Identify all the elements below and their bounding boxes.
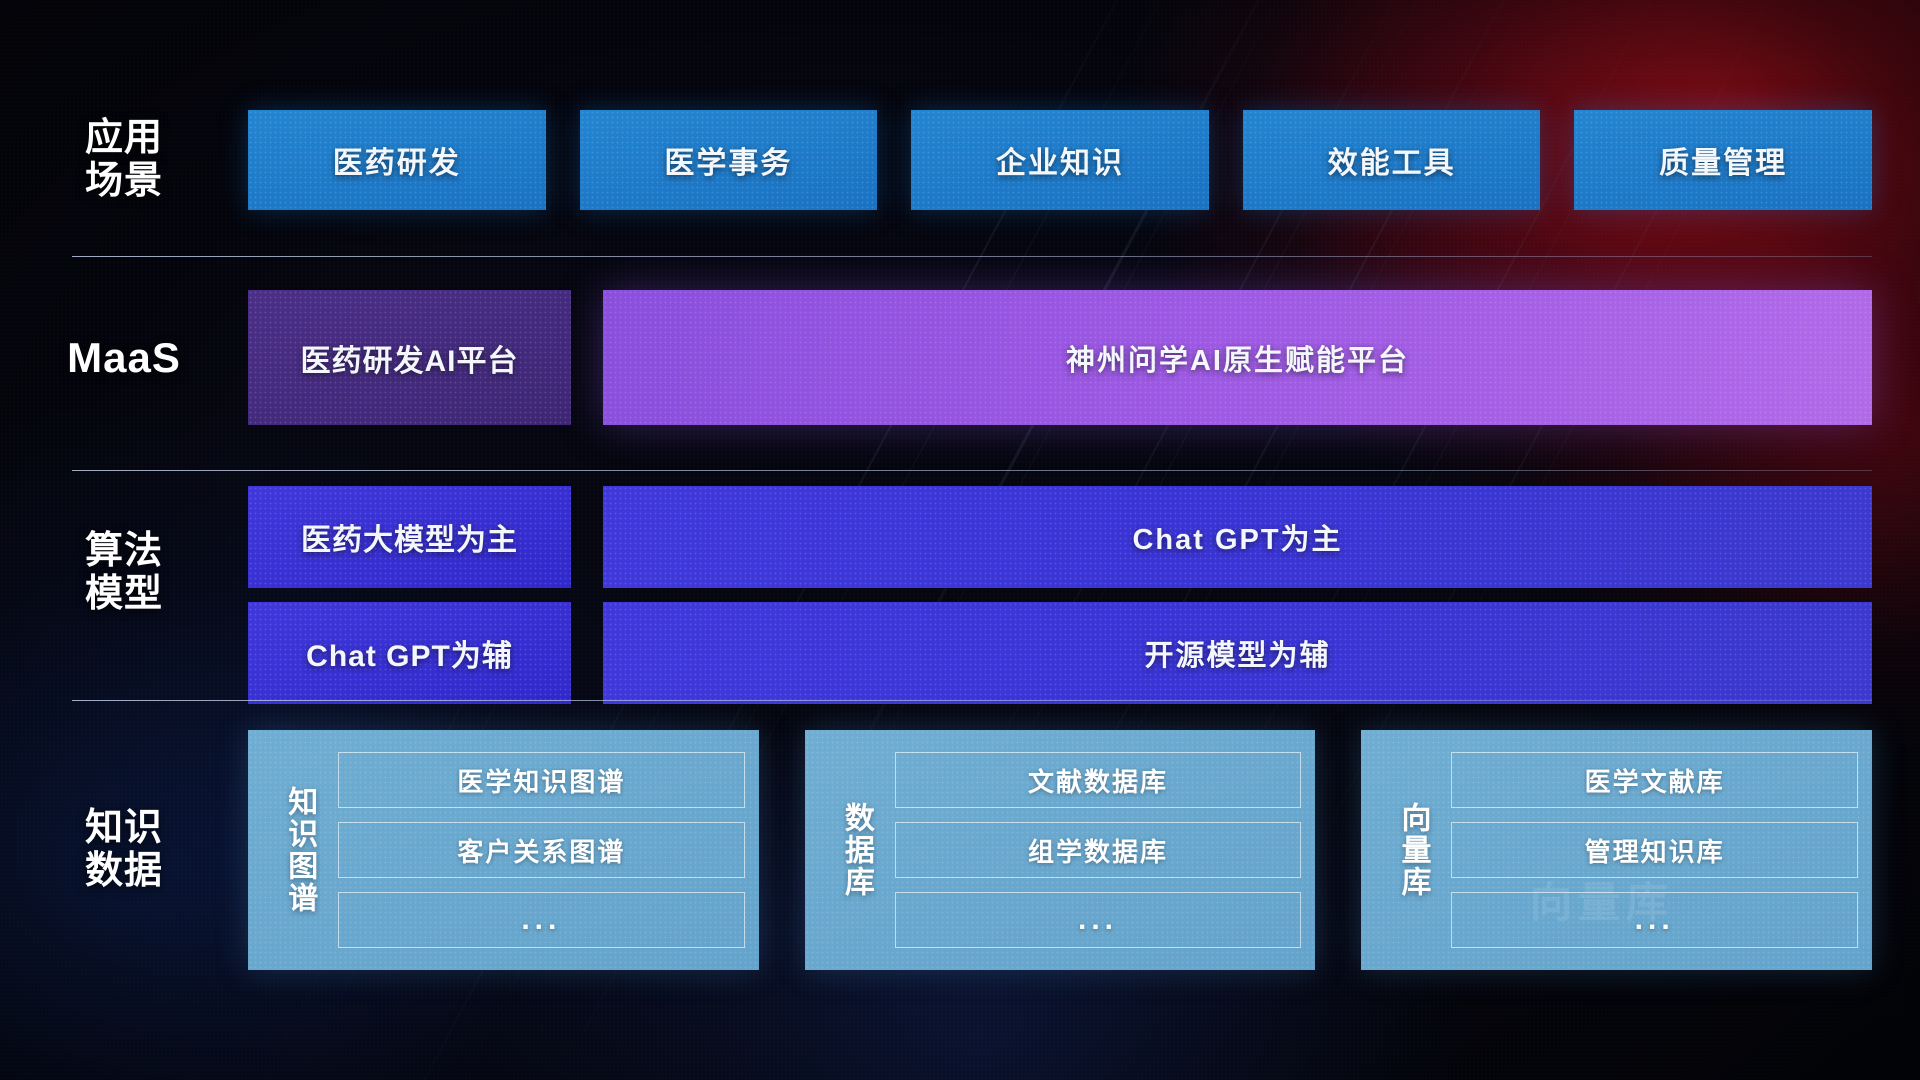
row-algorithm-model: 算法 模型 医药大模型为主 Chat GPT为主 Chat GPT为辅 开源模型… [0, 486, 1920, 726]
divider-2 [72, 470, 1872, 471]
knowledge-item-more[interactable]: ... [895, 892, 1302, 948]
row-label-maas: MaaS [0, 334, 248, 381]
architecture-diagram: 应用 场景 医药研发 医学事务 企业知识 效能工具 质量管理 MaaS 医药研发… [0, 0, 1920, 1080]
app-box-label: 质量管理 [1659, 138, 1787, 182]
knowledge-data-cards: 知识图谱 医学知识图谱 客户关系图谱 ... 数据库 文献数据库 组学数据库 .… [248, 730, 1920, 970]
app-box-label: 企业知识 [996, 138, 1124, 182]
app-box-pharma-rd[interactable]: 医药研发 [248, 110, 546, 210]
knowledge-item-medical-literature-store[interactable]: 医学文献库 [1451, 752, 1858, 808]
algo-left-label: Chat GPT为辅 [306, 631, 513, 675]
row-application-scenario: 应用 场景 医药研发 医学事务 企业知识 效能工具 质量管理 [0, 110, 1920, 210]
app-box-efficiency-tools[interactable]: 效能工具 [1243, 110, 1541, 210]
algo-box-opensource-secondary[interactable]: 开源模型为辅 [603, 602, 1872, 704]
algo-right-label: Chat GPT为主 [1132, 516, 1342, 558]
maas-boxes: 医药研发AI平台 神州问学AI原生赋能平台 [248, 290, 1920, 425]
knowledge-item-management-knowledge-store[interactable]: 管理知识库 [1451, 822, 1858, 878]
app-box-quality-management[interactable]: 质量管理 [1574, 110, 1872, 210]
algo-box-chatgpt-secondary[interactable]: Chat GPT为辅 [248, 602, 571, 704]
row-maas: MaaS 医药研发AI平台 神州问学AI原生赋能平台 [0, 290, 1920, 425]
app-box-label: 医学事务 [664, 138, 792, 182]
knowledge-card-items: 医学文献库 管理知识库 ... [1451, 752, 1858, 948]
knowledge-item-customer-relation-graph[interactable]: 客户关系图谱 [338, 822, 745, 878]
app-box-label: 医药研发 [333, 138, 461, 182]
row-label-algorithm-model: 算法 模型 [0, 486, 248, 615]
algo-box-chatgpt-primary[interactable]: Chat GPT为主 [603, 486, 1872, 588]
algorithm-bar-row-primary: 医药大模型为主 Chat GPT为主 [248, 486, 1872, 588]
knowledge-card-items: 文献数据库 组学数据库 ... [895, 752, 1302, 948]
algorithm-model-bars: 医药大模型为主 Chat GPT为主 Chat GPT为辅 开源模型为辅 [248, 486, 1920, 704]
maas-box-shenzhou-wenxue-platform[interactable]: 神州问学AI原生赋能平台 [603, 290, 1872, 425]
app-box-label: 效能工具 [1328, 138, 1456, 182]
knowledge-card-knowledge-graph[interactable]: 知识图谱 医学知识图谱 客户关系图谱 ... [248, 730, 759, 970]
knowledge-card-database[interactable]: 数据库 文献数据库 组学数据库 ... [805, 730, 1316, 970]
app-box-medical-affairs[interactable]: 医学事务 [580, 110, 878, 210]
knowledge-item-literature-database[interactable]: 文献数据库 [895, 752, 1302, 808]
maas-right-label: 神州问学AI原生赋能平台 [1066, 337, 1409, 379]
knowledge-item-omics-database[interactable]: 组学数据库 [895, 822, 1302, 878]
algorithm-bar-row-secondary: Chat GPT为辅 开源模型为辅 [248, 602, 1872, 704]
algo-left-label: 医药大模型为主 [301, 515, 518, 559]
maas-box-pharma-ai-platform[interactable]: 医药研发AI平台 [248, 290, 571, 425]
maas-left-label: 医药研发AI平台 [301, 336, 519, 380]
knowledge-item-medical-knowledge-graph[interactable]: 医学知识图谱 [338, 752, 745, 808]
app-box-enterprise-knowledge[interactable]: 企业知识 [911, 110, 1209, 210]
row-knowledge-data: 知识 数据 知识图谱 医学知识图谱 客户关系图谱 ... 数据库 文献数据库 组… [0, 730, 1920, 970]
knowledge-card-title: 向量库 [1379, 802, 1445, 898]
algo-box-pharma-llm-primary[interactable]: 医药大模型为主 [248, 486, 571, 588]
knowledge-item-more[interactable]: ... [338, 892, 745, 948]
application-scenario-boxes: 医药研发 医学事务 企业知识 效能工具 质量管理 [248, 110, 1920, 210]
divider-1 [72, 256, 1872, 257]
knowledge-card-vector-store[interactable]: 向量库 医学文献库 管理知识库 ... [1361, 730, 1872, 970]
knowledge-item-more[interactable]: ... [1451, 892, 1858, 948]
divider-3 [72, 700, 1872, 701]
knowledge-card-title: 数据库 [823, 802, 889, 898]
algo-right-label: 开源模型为辅 [1144, 632, 1330, 674]
knowledge-card-title: 知识图谱 [266, 786, 332, 914]
row-label-knowledge-data: 知识 数据 [0, 807, 248, 892]
knowledge-card-items: 医学知识图谱 客户关系图谱 ... [338, 752, 745, 948]
row-label-application-scenario: 应用 场景 [0, 117, 248, 202]
